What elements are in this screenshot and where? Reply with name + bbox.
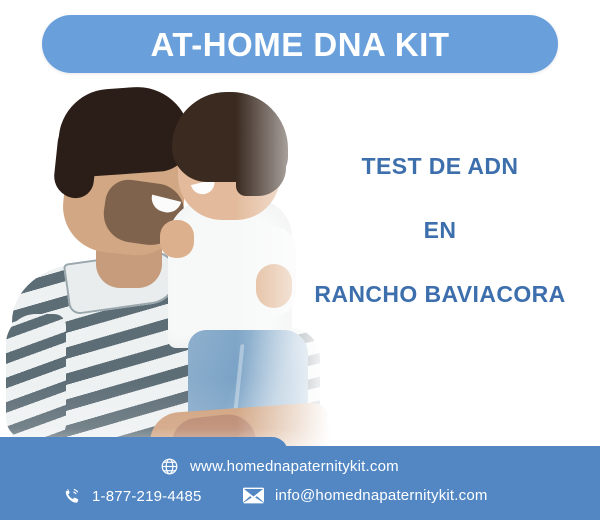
headline-line-1: TEST DE ADN <box>290 155 590 178</box>
child-fist <box>160 220 194 258</box>
father-and-child-photo <box>0 78 330 450</box>
header-banner: AT-HOME DNA KIT <box>42 15 558 73</box>
headline-block: TEST DE ADN EN RANCHO BAVIACORA <box>290 155 590 306</box>
globe-icon <box>160 457 179 476</box>
footer-phone-row[interactable]: 1-877-219-4485 <box>62 487 202 506</box>
footer-email-row[interactable]: info@homednapaternitykit.com <box>243 487 488 504</box>
footer-contact-bar: www.homednapaternitykit.com 1-877-219-44… <box>0 437 600 520</box>
footer-website-label[interactable]: www.homednapaternitykit.com <box>190 458 399 475</box>
header-title: AT-HOME DNA KIT <box>151 28 450 61</box>
headline-line-2: EN <box>290 219 590 242</box>
envelope-icon <box>243 487 264 504</box>
poster-canvas: AT-HOME DNA KIT TEST DE ADN E <box>0 0 600 520</box>
footer-contact-rows: www.homednapaternitykit.com 1-877-219-44… <box>0 437 600 520</box>
footer-website-row[interactable]: www.homednapaternitykit.com <box>160 457 399 476</box>
footer-phone-label[interactable]: 1-877-219-4485 <box>92 488 202 505</box>
footer-email-label[interactable]: info@homednapaternitykit.com <box>275 487 488 504</box>
headline-line-3: RANCHO BAVIACORA <box>290 283 590 306</box>
phone-icon <box>62 487 81 506</box>
